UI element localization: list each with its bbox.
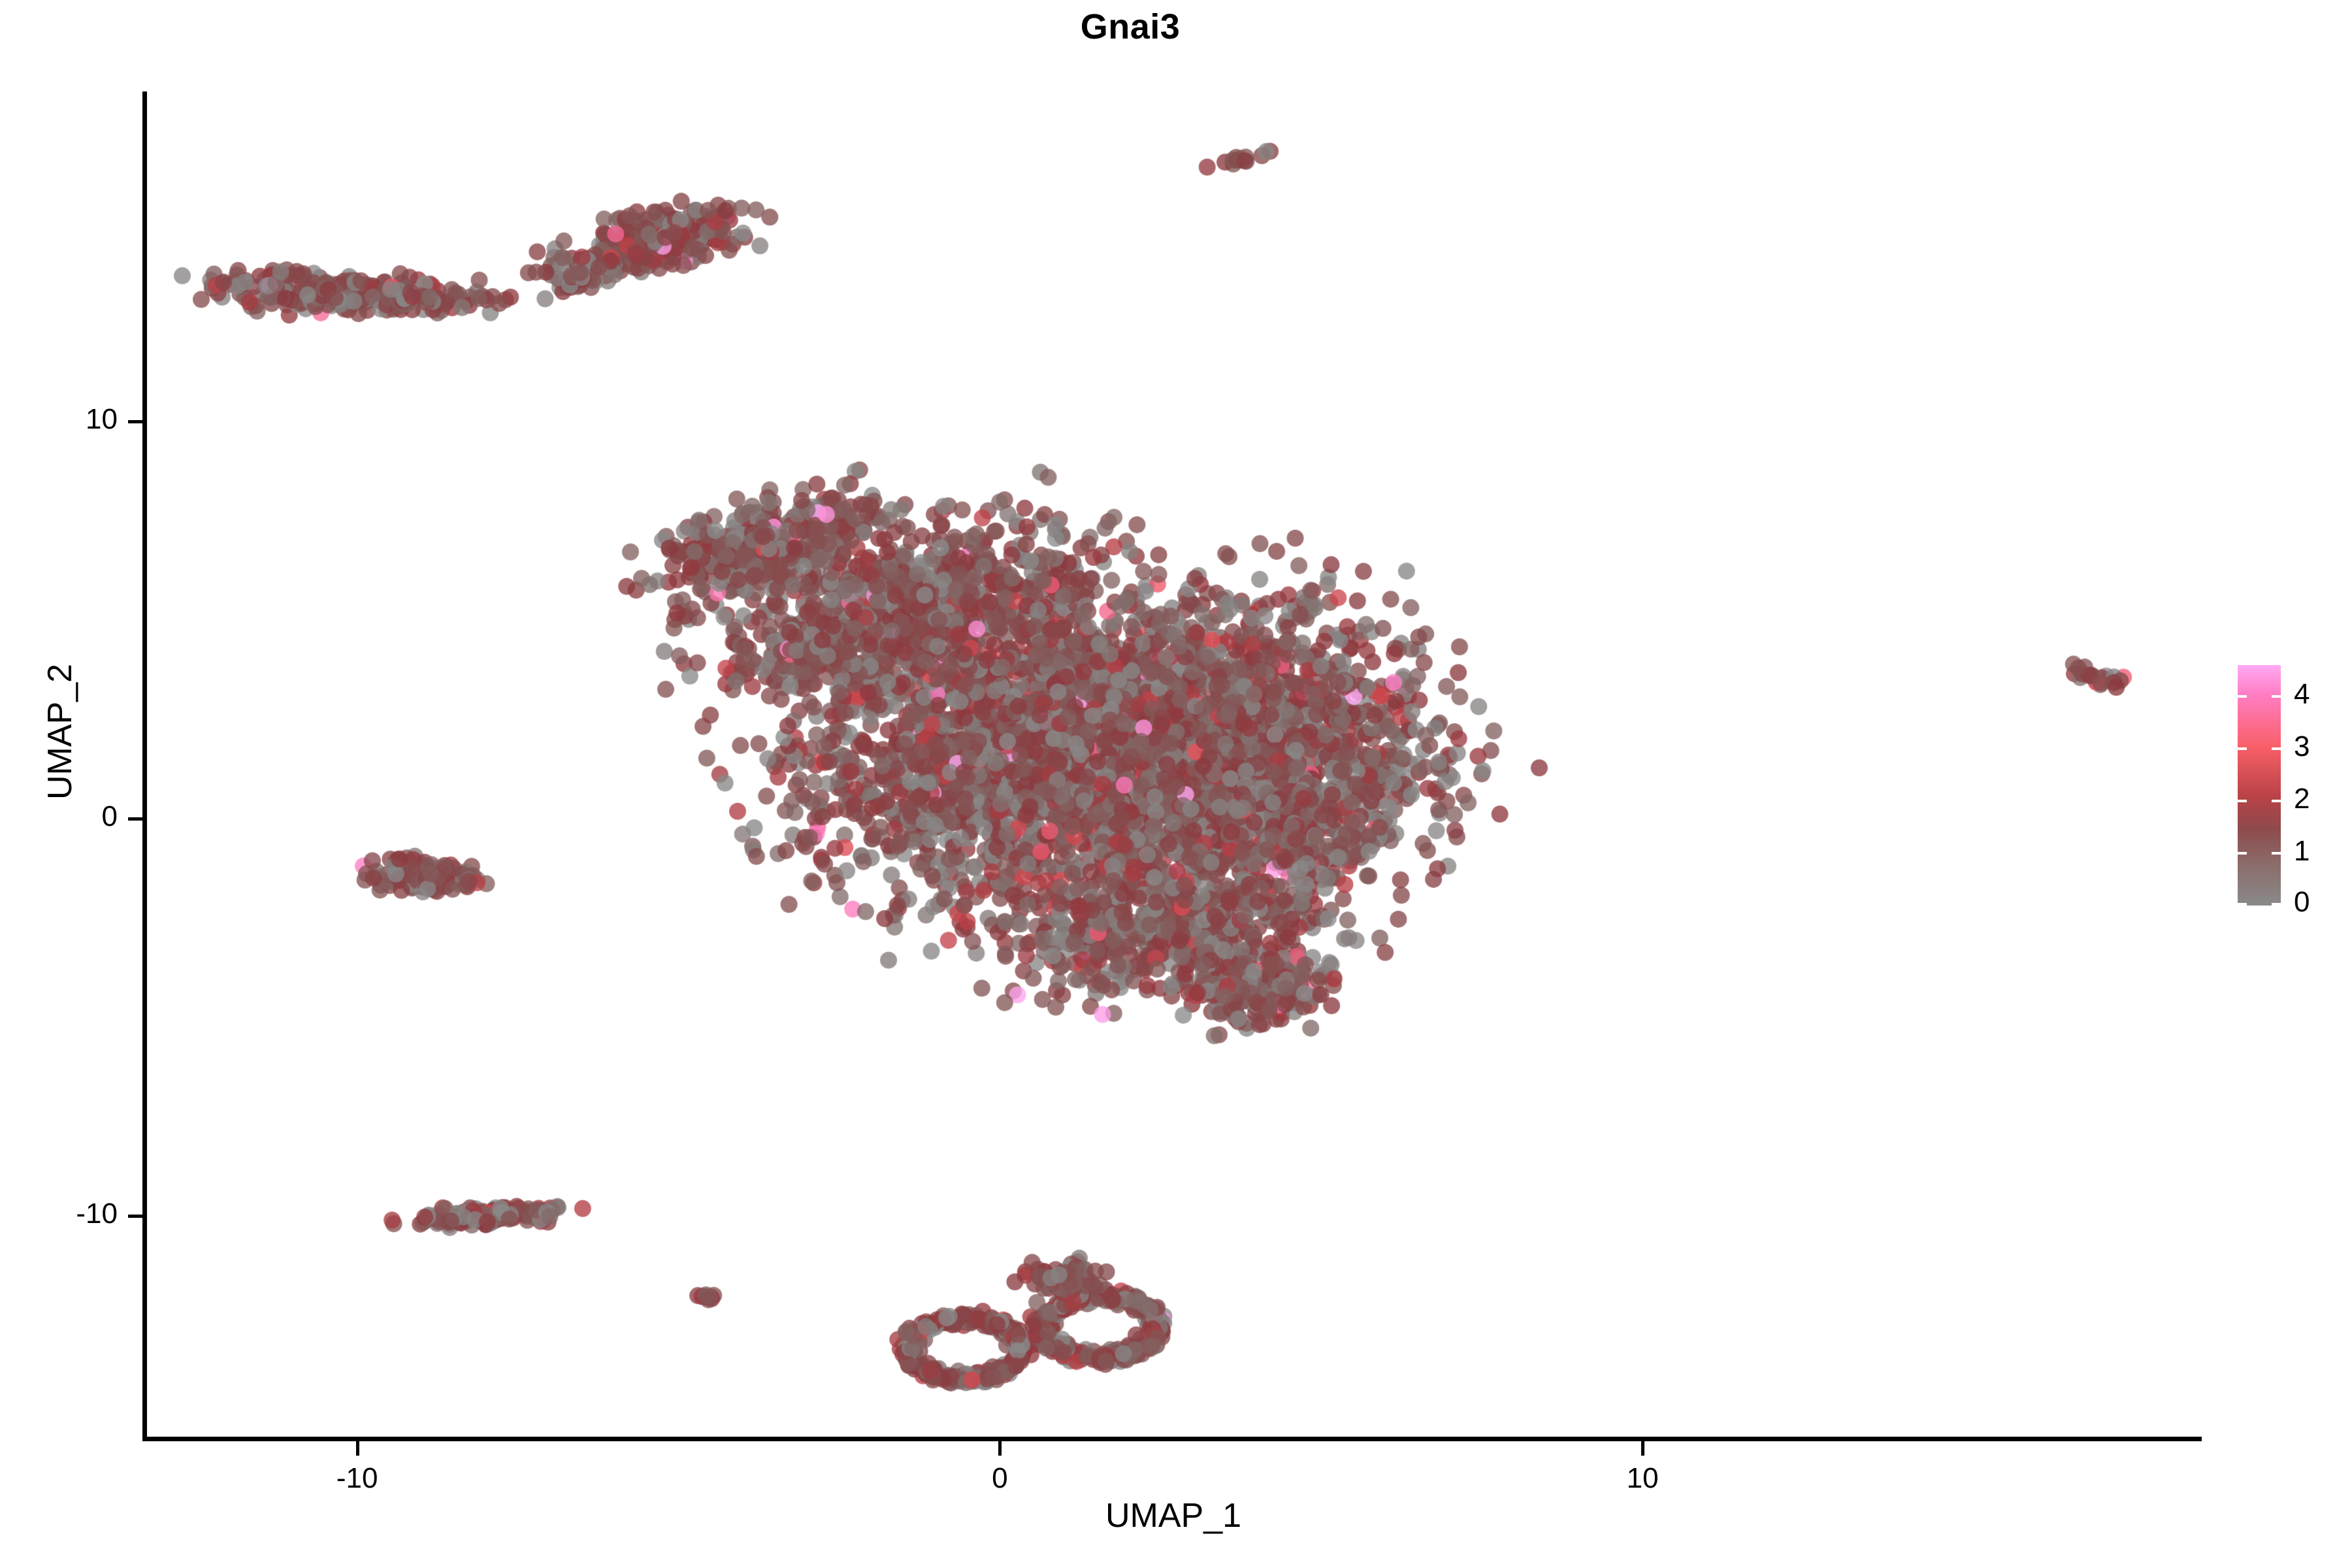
legend-label-3: 3: [2294, 732, 2310, 761]
plot-panel: [145, 91, 2202, 1439]
colorbar-tick-3-left: [2238, 747, 2247, 750]
y-axis-line: [142, 91, 147, 1441]
legend-label-1: 1: [2294, 837, 2310, 866]
x-tick-mark-0: [998, 1441, 1002, 1456]
legend-colorbar: 4 3 2 1 0: [2238, 665, 2349, 921]
x-tick-label-10: 10: [1544, 1462, 1740, 1495]
y-tick-label-neg10: -10: [0, 1198, 118, 1230]
y-tick-mark-0: [128, 817, 142, 821]
colorbar-tick-3-right: [2272, 747, 2281, 750]
x-tick-mark-neg10: [356, 1441, 359, 1456]
y-tick-mark-neg10: [128, 1215, 142, 1218]
y-axis-title: UMAP_2: [41, 601, 80, 862]
scatter-points-layer: [145, 91, 2202, 1439]
x-axis-line: [142, 1437, 2202, 1441]
y-tick-mark-10: [128, 420, 142, 423]
colorbar-tick-1-left: [2238, 852, 2247, 855]
x-tick-mark-10: [1641, 1441, 1644, 1456]
colorbar-tick-0-right: [2272, 903, 2281, 906]
page-title: Gnai3: [0, 8, 2261, 46]
colorbar-tick-4-left: [2238, 695, 2247, 698]
x-tick-label-0: 0: [902, 1462, 1098, 1495]
colorbar-tick-1-right: [2272, 852, 2281, 855]
colorbar-gradient: [2238, 665, 2281, 906]
legend-label-0: 0: [2294, 888, 2310, 917]
legend-label-4: 4: [2294, 680, 2310, 709]
y-tick-label-10: 10: [0, 403, 118, 436]
x-axis-title: UMAP_1: [145, 1496, 2202, 1535]
colorbar-tick-4-right: [2272, 695, 2281, 698]
x-tick-label-neg10: -10: [259, 1462, 455, 1495]
legend-label-2: 2: [2294, 785, 2310, 813]
feature-plot-figure: Gnai3 10 0 -10 -10 0 10 UMAP_2 UMAP_1: [0, 0, 2352, 1568]
colorbar-tick-2-left: [2238, 800, 2247, 802]
colorbar-tick-2-right: [2272, 800, 2281, 802]
colorbar-tick-0-left: [2238, 903, 2247, 906]
